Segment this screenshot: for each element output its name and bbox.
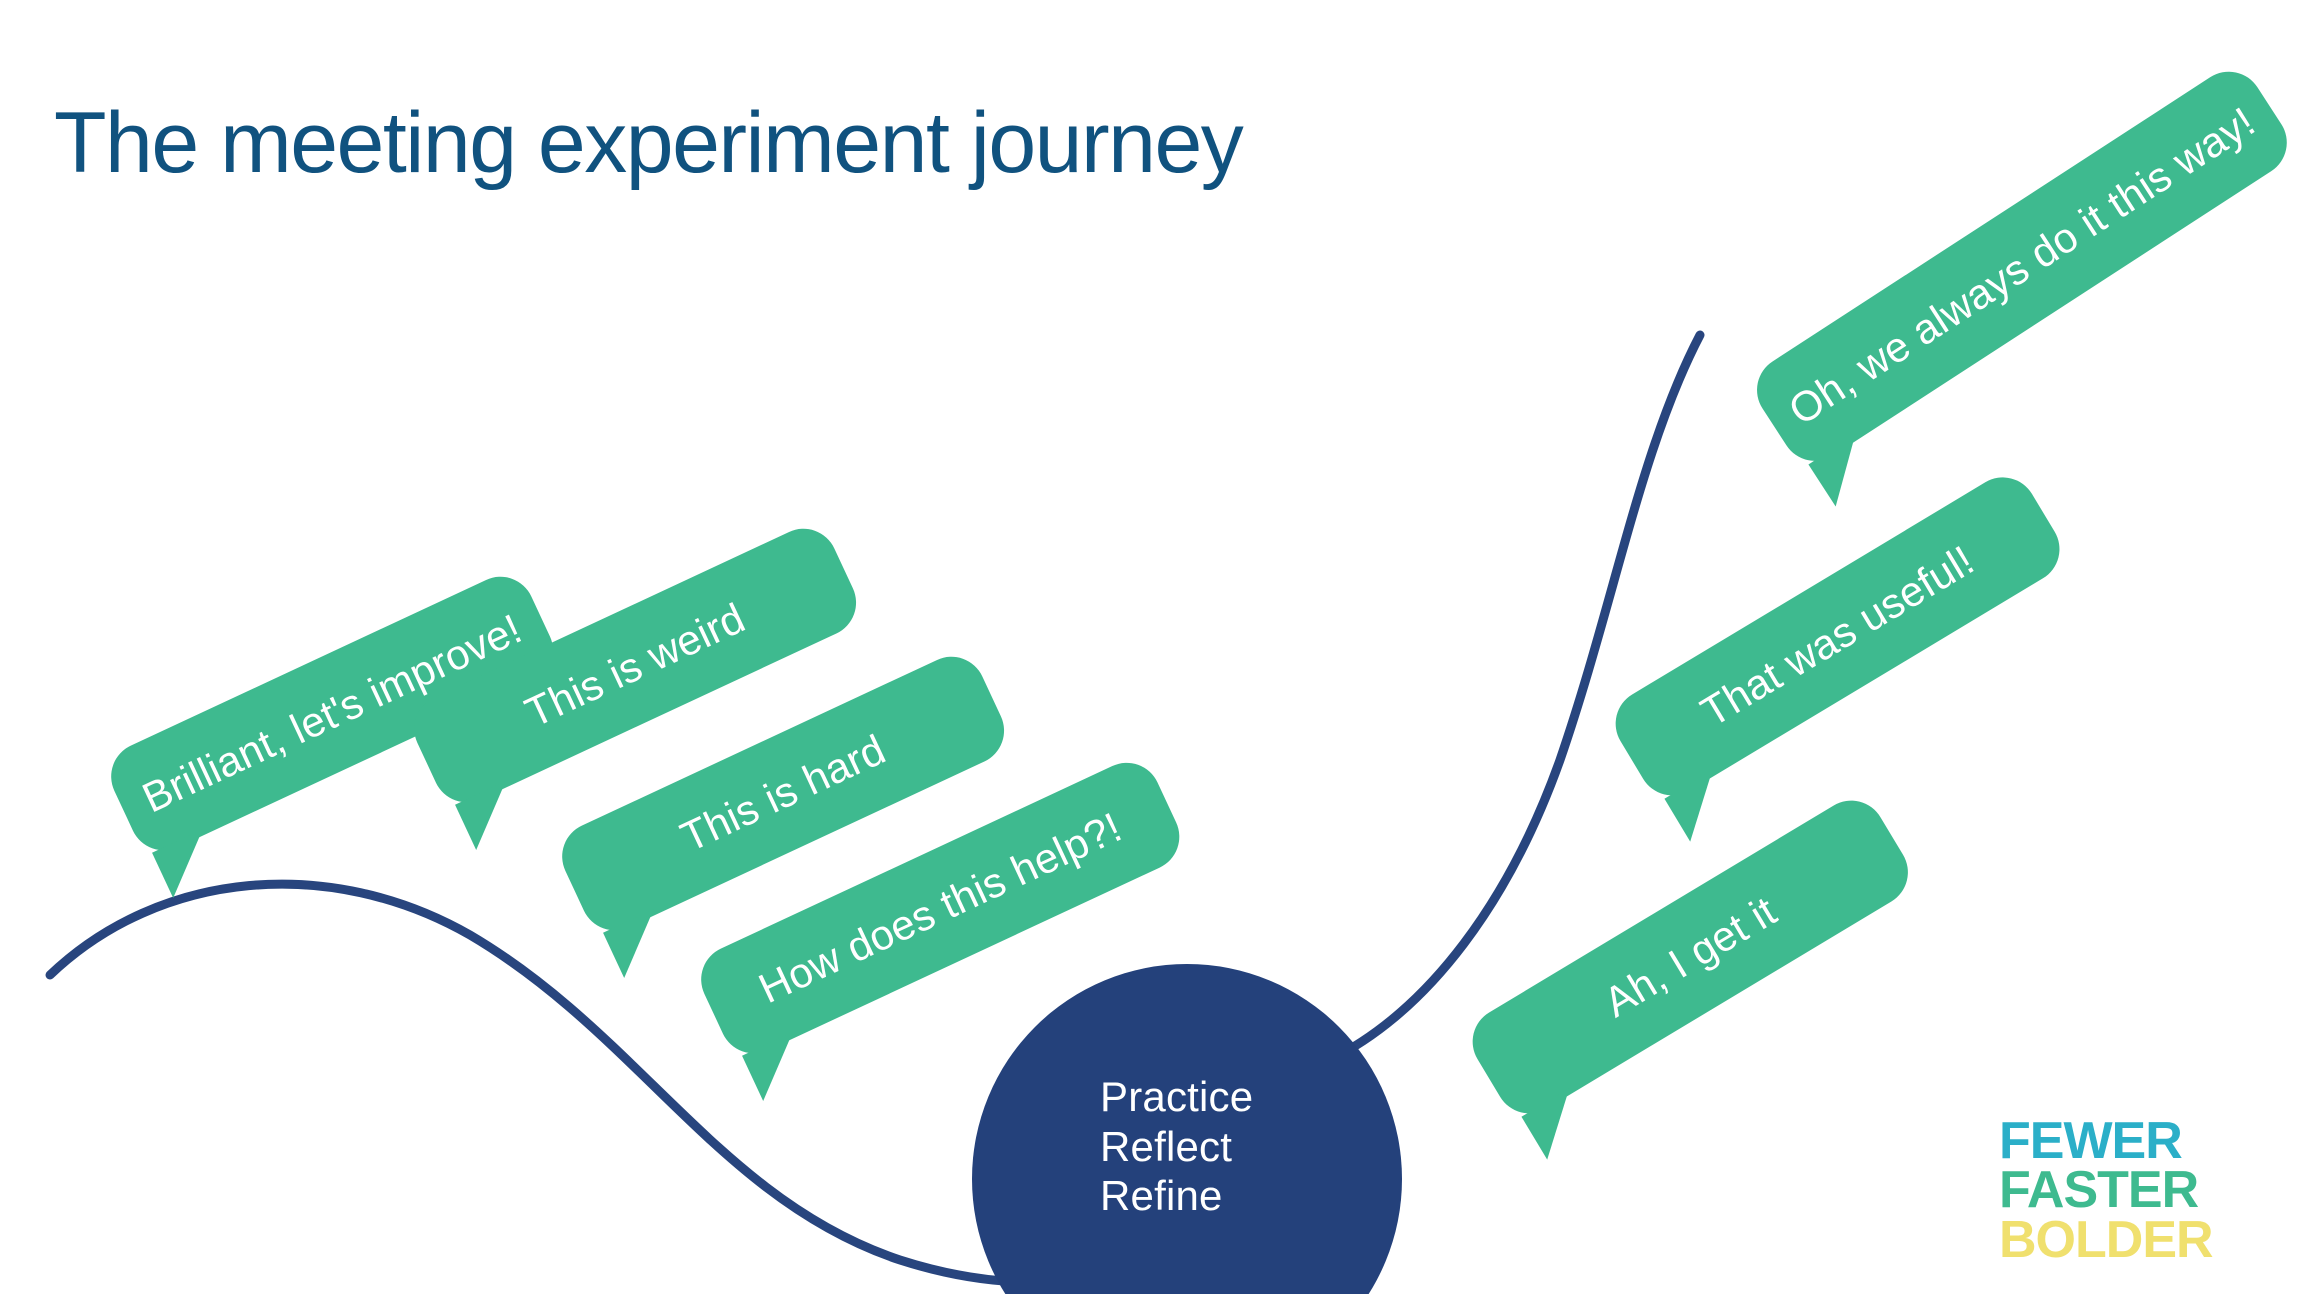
logo-line-faster: FASTER — [1999, 1166, 2213, 1215]
logo-line-fewer: FEWER — [1999, 1117, 2213, 1166]
speech-bubble-label: That was useful! — [1693, 536, 1983, 736]
page-title: The meeting experiment journey — [54, 94, 1242, 193]
speech-bubble-tail-icon — [1808, 434, 1882, 506]
core-cycle-circle[interactable]: Practice Reflect Refine — [972, 964, 1402, 1294]
core-line-refine: Refine — [1100, 1171, 1223, 1221]
logo-line-bolder: BOLDER — [1999, 1216, 2213, 1265]
speech-bubble-tail-icon — [603, 909, 675, 978]
speech-bubble-label: Oh, we always do it this way! — [1780, 98, 2263, 435]
speech-bubble-tail-icon — [152, 829, 224, 898]
speech-bubble-tail-icon — [1664, 770, 1738, 842]
speech-bubble-tail-icon — [742, 1032, 814, 1101]
speech-bubble-that-was-useful[interactable]: That was useful! — [1603, 465, 2072, 808]
speech-bubble-tail-icon — [1521, 1088, 1595, 1160]
speech-bubble-tail-icon — [455, 781, 527, 850]
speech-bubble-oh-we-always-do-it-this-way[interactable]: Oh, we always do it this way! — [1744, 59, 2300, 474]
slide-canvas: The meeting experiment journey Brilliant… — [0, 0, 2304, 1294]
speech-bubble-label: This is hard — [674, 725, 893, 861]
core-line-practice: Practice — [1100, 1072, 1253, 1122]
core-line-reflect: Reflect — [1100, 1122, 1232, 1172]
speech-bubble-label: This is weird — [518, 594, 752, 737]
brand-logo: FEWER FASTER BOLDER — [1999, 1117, 2213, 1265]
speech-bubble-label: Ah, I get it — [1596, 887, 1785, 1027]
